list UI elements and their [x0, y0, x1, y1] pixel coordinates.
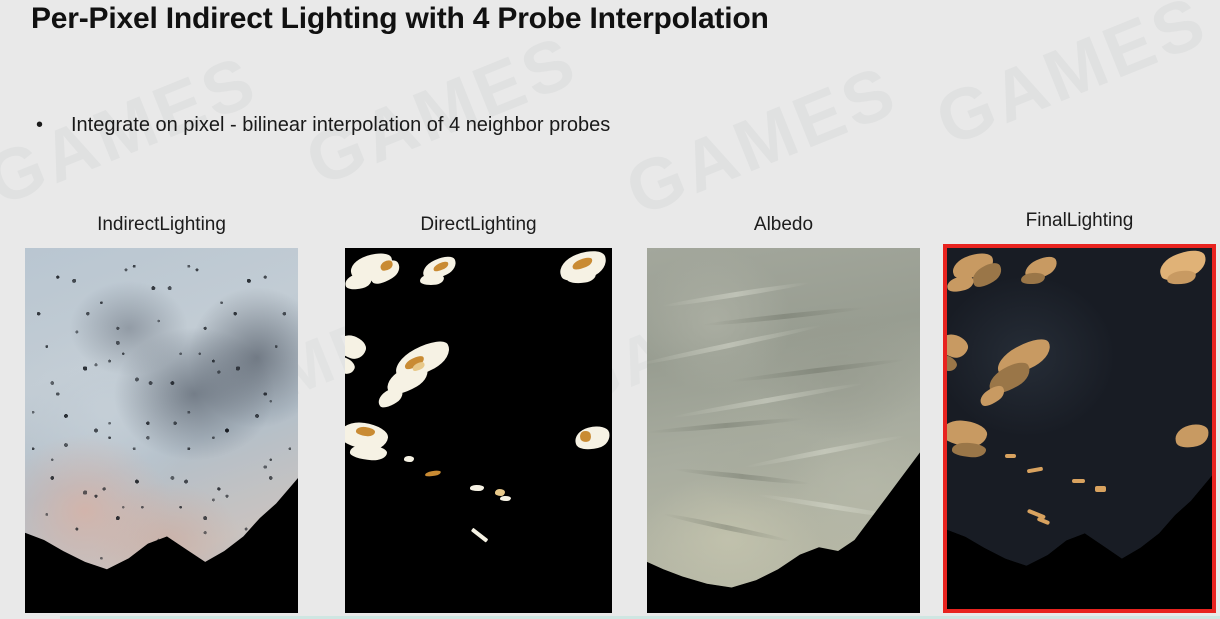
render-buffer-albedo: [647, 248, 920, 613]
terrain-silhouette: [647, 248, 920, 613]
lit-speck: [1005, 454, 1016, 459]
final-composite-gradient: [947, 248, 1212, 609]
specular-highlight: [500, 496, 511, 501]
panel-caption-indirect-lighting: IndirectLighting: [25, 214, 298, 236]
render-buffer-direct-lighting: [345, 248, 612, 613]
bullet-list: • Integrate on pixel - bilinear interpol…: [36, 112, 610, 138]
terrain-silhouette: [25, 248, 298, 613]
specular-highlight-warm: [495, 489, 506, 496]
panel-caption-albedo: Albedo: [647, 214, 920, 236]
lit-speck: [1072, 479, 1085, 483]
gi-noise-speckle: [25, 248, 298, 613]
render-buffer-final-lighting: [943, 244, 1216, 613]
panel-direct-lighting[interactable]: DirectLighting: [345, 248, 612, 613]
panel-caption-final-lighting: FinalLighting: [943, 210, 1216, 232]
lit-speck: [1095, 486, 1106, 492]
panel-albedo[interactable]: Albedo: [647, 248, 920, 613]
specular-highlight: [404, 456, 415, 462]
bullet-marker: •: [36, 112, 56, 138]
specular-highlight: [470, 485, 483, 490]
watermark-text: GAMES: [295, 20, 589, 202]
terrain-silhouette: [947, 248, 1212, 609]
panel-final-lighting[interactable]: FinalLighting: [943, 244, 1216, 613]
panel-caption-direct-lighting: DirectLighting: [345, 214, 612, 236]
slide-canvas: GAMES GAMES GAMES GAMES GAMES GAMES Per-…: [0, 0, 1220, 619]
panel-indirect-lighting[interactable]: IndirectLighting: [25, 248, 298, 613]
watermark-text: GAMES: [615, 50, 909, 232]
slide-title: Per-Pixel Indirect Lighting with 4 Probe…: [31, 2, 769, 36]
bullet-text: Integrate on pixel - bilinear interpolat…: [71, 112, 610, 138]
watermark-text: GAMES: [925, 0, 1219, 162]
render-buffer-indirect-lighting: [25, 248, 298, 613]
